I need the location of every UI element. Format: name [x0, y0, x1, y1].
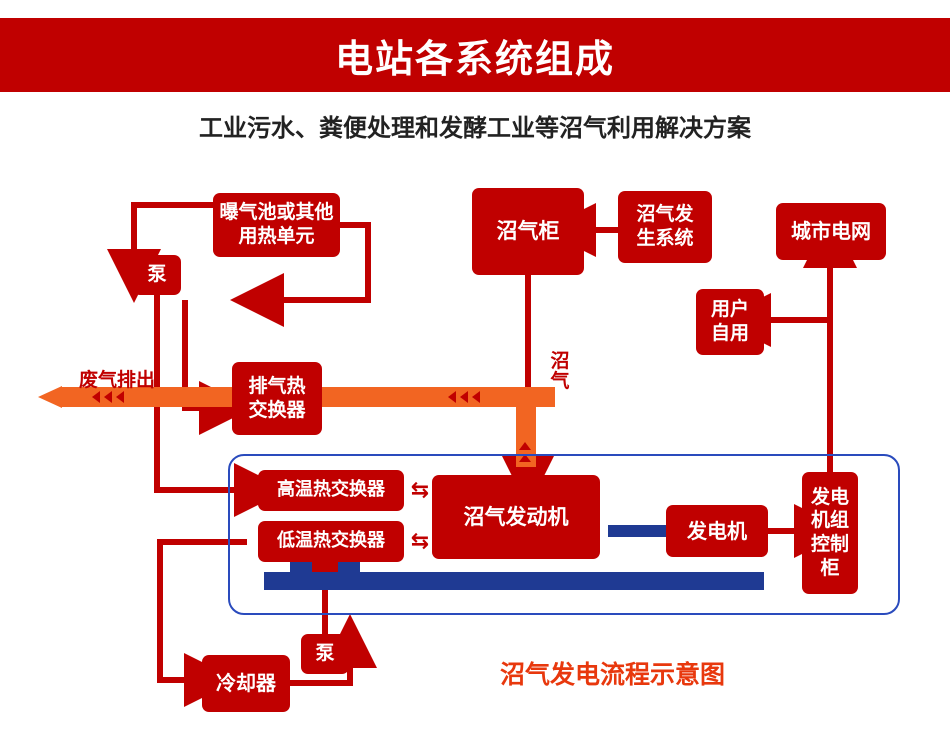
- bus-bar-stub-1: [290, 560, 312, 574]
- label-biogas-vertical: 沼气: [550, 352, 570, 392]
- bus-bar-main: [264, 572, 764, 590]
- node-city-grid[interactable]: 城市电网: [776, 203, 886, 260]
- heat-exchange-symbol-2: ⇆: [406, 529, 434, 554]
- node-aeration-tank[interactable]: 曝气池或其他 用热单元: [213, 193, 340, 257]
- node-biogas-generation-system[interactable]: 沼气发 生系统: [618, 191, 712, 263]
- node-exhaust-heat-exchanger[interactable]: 排气热 交换器: [232, 362, 322, 435]
- node-low-temp-heat-exchanger[interactable]: 低温热交换器: [258, 521, 404, 562]
- bus-bar-stub-2: [338, 560, 360, 574]
- header-banner: 电站各系统组成: [0, 18, 950, 92]
- heat-exchange-symbol-1: ⇆: [406, 478, 434, 503]
- node-high-temp-heat-exchanger[interactable]: 高温热交换器: [258, 470, 404, 511]
- node-pump-top[interactable]: 泵: [133, 255, 181, 295]
- node-pump-bottom[interactable]: 泵: [301, 634, 349, 674]
- page-title: 电站各系统组成: [335, 28, 615, 83]
- diagram-caption: 沼气发电流程示意图: [500, 655, 725, 691]
- node-generator[interactable]: 发电机: [666, 505, 768, 557]
- node-biogas-tank[interactable]: 沼气柜: [472, 188, 584, 275]
- page-subtitle: 工业污水、粪便处理和发酵工业等沼气利用解决方案: [0, 108, 950, 143]
- node-user-self-use[interactable]: 用户 自用: [696, 289, 764, 355]
- label-waste-gas-out: 废气排出: [62, 365, 172, 392]
- diagram-canvas: 曝气池或其他 用热单元 泵 沼气柜 沼气发 生系统 城市电网 用户 自用 排气热…: [0, 150, 950, 756]
- node-generator-control-cabinet[interactable]: 发电 机组 控制 柜: [802, 472, 858, 594]
- node-biogas-engine[interactable]: 沼气发动机: [432, 475, 600, 559]
- node-cooler[interactable]: 冷却器: [202, 655, 290, 712]
